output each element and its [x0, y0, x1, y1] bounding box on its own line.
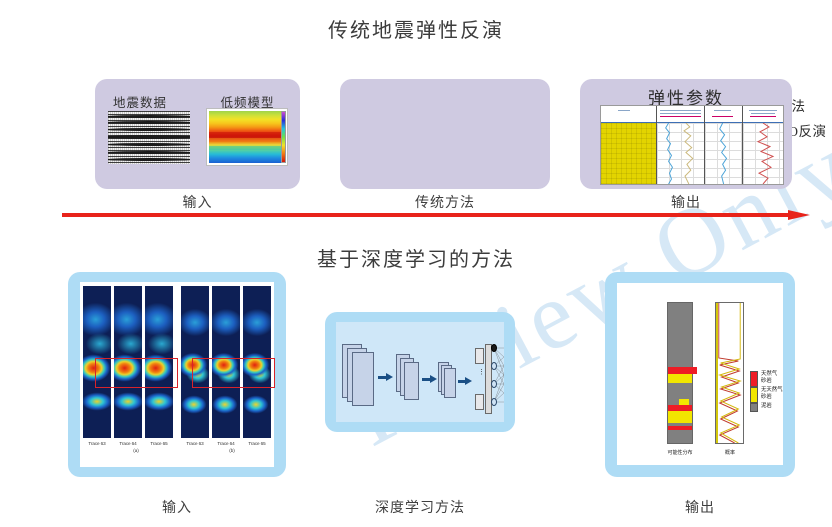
legend-swatch-no-gas-sand [750, 387, 758, 403]
subfigure-label-b: (b) [196, 448, 268, 453]
well-log-display [600, 105, 784, 185]
caption-output-deep: 输出 [605, 497, 795, 517]
curve-red [743, 123, 783, 184]
trace-label: Trace 63 [181, 441, 209, 446]
track-label-likelihood: 可能性分布 [657, 449, 703, 456]
legend-label-no-gas-sand: 无天然气 砂岩 [761, 387, 783, 401]
probability-curves [716, 303, 743, 443]
lithology-spike [681, 367, 697, 374]
trace-label: Trace 65 [145, 441, 173, 446]
legend-item-no-gas-sand: 无天然气 砂岩 [750, 387, 783, 403]
caption-output-traditional: 输出 [580, 192, 792, 212]
lithology-legend: 天然气 砂岩 无天然气 砂岩 泥岩 [750, 371, 783, 412]
lithology-spike [679, 399, 689, 405]
process-flow-arrow [62, 210, 810, 220]
legend-swatch-mudstone [750, 403, 758, 412]
label-seismic-data: 地震数据 [95, 92, 185, 111]
legend-swatch-gas-sand [750, 371, 758, 387]
red-highlight-box-a [95, 358, 178, 388]
figure-canvas: Review Only 传统地震弹性反演 地震数据 低频模型 输入 线性化AVO… [0, 0, 832, 527]
cnn-architecture-diagram: ⋮ ⋮ ⋮ [336, 322, 504, 422]
flatten-cell-icon [475, 394, 484, 410]
caption-input-traditional: 输入 [95, 192, 300, 212]
red-highlight-box-b [192, 358, 275, 388]
legend-item-gas-sand: 天然气 砂岩 [750, 371, 783, 387]
caption-input-deep: 输入 [68, 497, 286, 517]
legend-item-mudstone: 泥岩 [750, 403, 783, 412]
vertical-dots-icon: ⋮ [478, 370, 485, 374]
legend-label-gas-sand: 天然气 砂岩 [761, 371, 777, 385]
track-label-probability: 概率 [709, 449, 751, 456]
legend-label-mudstone: 泥岩 [761, 403, 772, 410]
curve-tan [657, 123, 703, 184]
feature-map-icon [444, 368, 456, 398]
trace-label: Trace 64 [212, 441, 240, 446]
trace-label: Trace 65 [243, 441, 271, 446]
lithology-probability-display: 可能性分布 概率 天然气 砂岩 无天然气 砂岩 泥岩 [617, 283, 783, 465]
curve-blue-2 [705, 123, 742, 184]
feature-map-icon [352, 352, 374, 406]
colorbar [281, 111, 286, 163]
subfigure-label-a: (a) [100, 448, 172, 453]
caption-traditional-methods: 传统方法 [340, 192, 550, 212]
feature-map-icon [404, 362, 419, 400]
trace-label: Trace 63 [83, 441, 111, 446]
seismic-section-image [108, 111, 190, 164]
trace-label: Trace 64 [114, 441, 142, 446]
section-title-traditional: 传统地震弹性反演 [0, 14, 832, 43]
low-frequency-model-image [206, 108, 288, 166]
section-title-deep-learning: 基于深度学习的方法 [0, 243, 832, 272]
probability-track [715, 302, 744, 444]
flatten-cell-icon [475, 348, 484, 364]
caption-deep-method: 深度学习方法 [325, 497, 515, 517]
